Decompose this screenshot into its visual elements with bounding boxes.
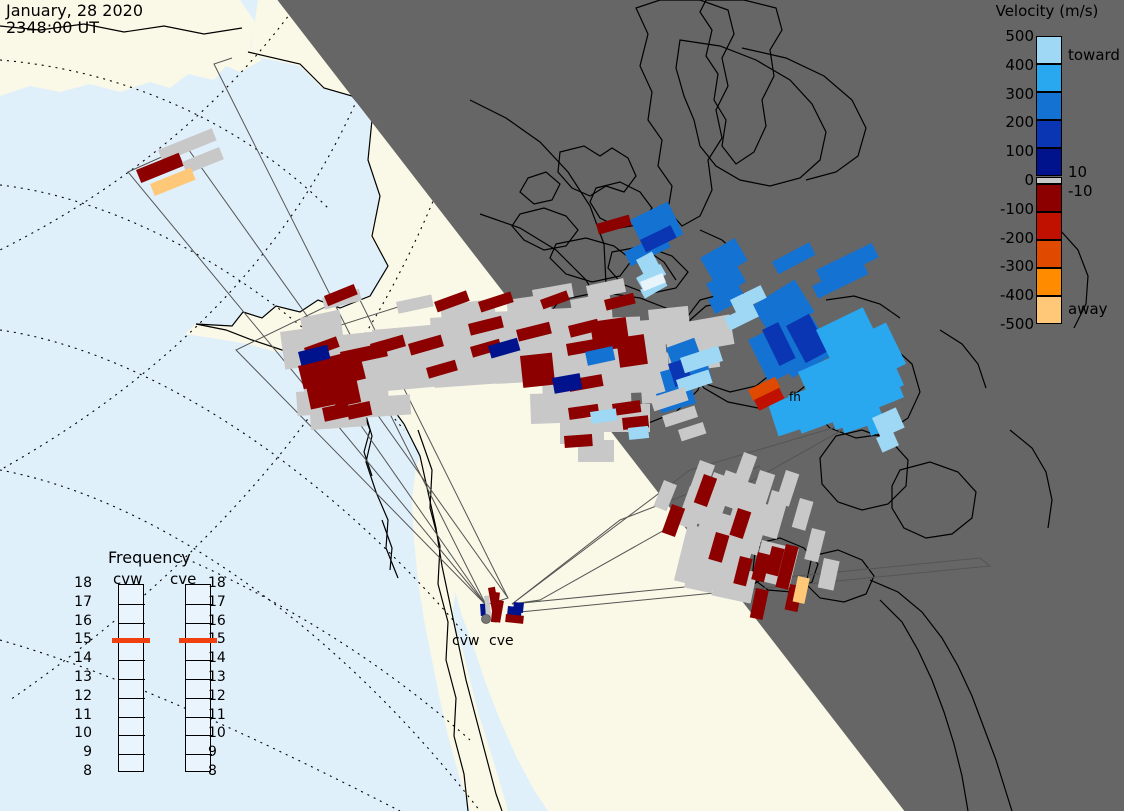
colorbar-band [1036, 92, 1062, 120]
frequency-tick-label: 18 [208, 575, 230, 591]
colorbar-tick-label: 500 [974, 27, 1034, 45]
frequency-tick-label: 14 [208, 650, 230, 666]
frequency-tick-label: 9 [70, 744, 92, 760]
frequency-marker-cvw [112, 638, 150, 643]
frequency-tick-label: 16 [208, 613, 230, 629]
frequency-tick-label: 10 [70, 725, 92, 741]
colorbar-tick-label: -500 [974, 315, 1034, 333]
site-label-cve: cve [489, 633, 514, 649]
frequency-tick-label: 12 [208, 688, 230, 704]
frequency-tick-label: 15 [70, 631, 92, 647]
frequency-tick-label: 12 [70, 688, 92, 704]
map-canvas [0, 0, 1124, 811]
frequency-tick-label: 13 [208, 669, 230, 685]
colorbar-zero-band [1036, 177, 1062, 184]
frequency-gridline [119, 698, 145, 699]
colorbar-threshold-upper: 10 [1068, 163, 1087, 181]
colorbar-tick-label: -300 [974, 257, 1034, 275]
frequency-tick-label: 16 [70, 613, 92, 629]
site-label-fh: fh [789, 390, 801, 404]
colorbar-band [1036, 296, 1062, 324]
colorbar-band [1036, 120, 1062, 148]
colorbar-tick-label: 200 [974, 113, 1034, 131]
frequency-tick-label: 17 [208, 594, 230, 610]
colorbar-band [1036, 268, 1062, 296]
frequency-gridline [119, 717, 145, 718]
colorbar-tick-label: 100 [974, 142, 1034, 160]
frequency-gridline [119, 754, 145, 755]
site-label-cvw: cvw [452, 633, 479, 649]
frequency-gridline [119, 660, 145, 661]
colorbar-band [1036, 64, 1062, 92]
frequency-gridline [119, 604, 145, 605]
colorbar-tick-label: -100 [974, 200, 1034, 218]
radar-velocity-map: January, 28 20202348:00 UT Velocity (m/s… [0, 0, 1124, 811]
frequency-tick-label: 17 [70, 594, 92, 610]
frequency-gridline [119, 679, 145, 680]
colorbar-tick-label: 300 [974, 85, 1034, 103]
colorbar-tick-label: 400 [974, 56, 1034, 74]
frequency-tick-label: 11 [208, 707, 230, 723]
colorbar-band [1036, 240, 1062, 268]
colorbar-tick-label: 0 [974, 171, 1034, 189]
colorbar-tick-label: -400 [974, 286, 1034, 304]
timestamp-time: 2348:00 UT [6, 18, 99, 37]
timestamp-block: January, 28 20202348:00 UT [6, 2, 143, 36]
velocity-colorbar [1036, 36, 1062, 324]
colorbar-toward-label: toward [1068, 46, 1120, 64]
frequency-tick-label: 11 [70, 707, 92, 723]
frequency-tick-label: 8 [70, 763, 92, 779]
frequency-tick-label: 13 [70, 669, 92, 685]
colorbar-band [1036, 36, 1062, 64]
frequency-tick-label: 14 [70, 650, 92, 666]
frequency-marker-cve [179, 638, 217, 643]
frequency-tick-label: 9 [208, 744, 230, 760]
colorbar-band [1036, 212, 1062, 240]
colorbar-away-label: away [1068, 300, 1108, 318]
colorbar-threshold-lower: -10 [1068, 182, 1093, 200]
frequency-tick-label: 18 [70, 575, 92, 591]
frequency-tick-label: 8 [208, 763, 230, 779]
frequency-tick-label: 10 [208, 725, 230, 741]
colorbar-title: Velocity (m/s) [970, 2, 1124, 20]
colorbar-band [1036, 184, 1062, 212]
frequency-title: Frequency [108, 548, 191, 567]
frequency-bar-cvw [118, 584, 144, 772]
frequency-gridline [119, 623, 145, 624]
colorbar-band [1036, 148, 1062, 176]
frequency-gridline [119, 735, 145, 736]
colorbar-tick-label: -200 [974, 229, 1034, 247]
